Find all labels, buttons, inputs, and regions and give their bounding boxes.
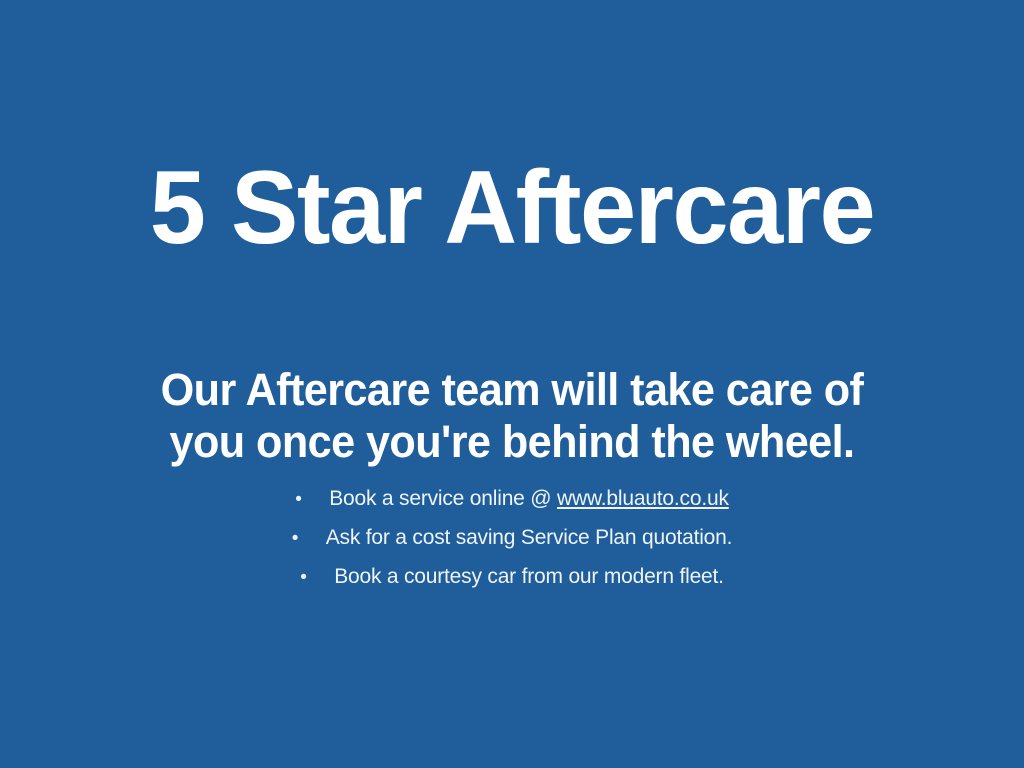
website-link[interactable]: www.bluauto.co.uk xyxy=(557,487,729,510)
bullet-dot-icon xyxy=(292,526,326,551)
bullet-row: Ask for a cost saving Service Plan quota… xyxy=(292,525,733,551)
bullet-list: Book a service online @ www.bluauto.co.u… xyxy=(0,486,1024,603)
page-title: 5 Star Aftercare xyxy=(15,152,1008,264)
bullet-dot-icon xyxy=(295,487,329,512)
list-item: Ask for a cost saving Service Plan quota… xyxy=(0,525,1024,564)
bullet-text: Book a service online @ www.bluauto.co.u… xyxy=(329,486,729,511)
bullet-text: Ask for a cost saving Service Plan quota… xyxy=(326,525,733,550)
subtitle-line-1: Our Aftercare team will take care of xyxy=(20,364,1003,416)
title-block: 5 Star Aftercare xyxy=(0,152,1024,264)
subtitle-block: Our Aftercare team will take care of you… xyxy=(0,364,1024,468)
bullet-text-lead: Book a service online @ xyxy=(329,487,557,510)
subtitle-line-2: you once you're behind the wheel. xyxy=(20,416,1003,468)
list-item: Book a service online @ www.bluauto.co.u… xyxy=(0,486,1024,525)
slide-subtitle: Our Aftercare team will take care of you… xyxy=(20,364,1003,468)
bullet-dot-icon xyxy=(300,565,334,590)
list-item: Book a courtesy car from our modern flee… xyxy=(0,564,1024,603)
bullet-row: Book a service online @ www.bluauto.co.u… xyxy=(295,486,729,512)
bullet-block: Book a service online @ www.bluauto.co.u… xyxy=(0,486,1024,603)
bullet-text: Book a courtesy car from our modern flee… xyxy=(334,564,724,589)
bullet-row: Book a courtesy car from our modern flee… xyxy=(300,564,724,590)
slide-canvas: 5 Star Aftercare Our Aftercare team will… xyxy=(0,0,1024,768)
